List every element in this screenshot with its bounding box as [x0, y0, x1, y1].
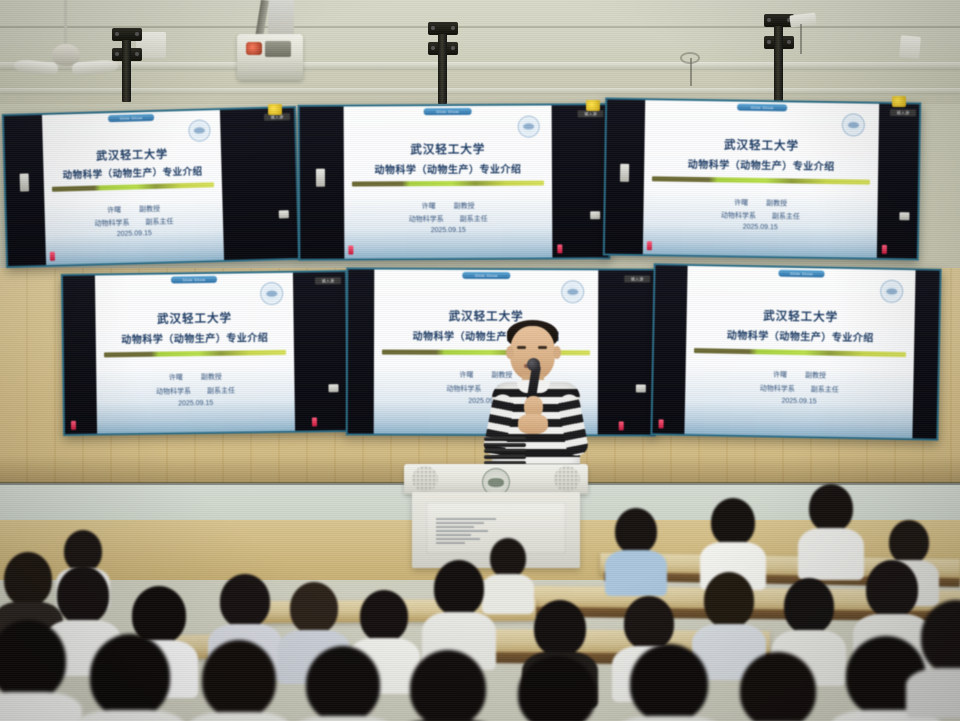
- slide-presenter-title: 副教授: [454, 203, 475, 210]
- slide-presenter-title: 副教授: [139, 206, 160, 214]
- slide-toolbar-label: Slide Show: [462, 272, 510, 279]
- podium-top: [404, 464, 588, 494]
- person-head: [809, 484, 853, 532]
- person-head: [630, 644, 708, 721]
- person-body: [74, 710, 186, 721]
- display-side-panel: [605, 100, 645, 255]
- projector-housing: [265, 41, 291, 57]
- display-corner-sticker: [268, 104, 282, 115]
- slide-university: 武汉轻工大学: [644, 135, 878, 155]
- projector-mount-base: [268, 0, 294, 38]
- slide-content: Slide Show 武汉轻工大学 动物科学（动物生产）专业介绍 许曙 副教授 …: [42, 110, 224, 265]
- audience-person-foreground: [916, 600, 960, 710]
- audience-person: [706, 498, 760, 580]
- slide-presenter-dept: 动物科学系: [409, 216, 444, 223]
- slide-presenter-title: 副教授: [805, 372, 826, 379]
- presenter-ear: [553, 346, 561, 359]
- person-head: [711, 498, 755, 546]
- audience-person: [804, 484, 858, 570]
- slide-divider: [352, 181, 544, 187]
- slide-toolbar: Slide Show: [778, 270, 824, 278]
- presenter-eye: [517, 346, 526, 349]
- person-body: [482, 574, 534, 614]
- fan-blade: [13, 59, 58, 77]
- person-head: [57, 566, 109, 624]
- slide-presenter-dept: 动物科学系: [156, 388, 191, 395]
- audience-person-foreground: [300, 646, 386, 721]
- display-side-panel: 输入源: [552, 105, 609, 257]
- panel-button[interactable]: [590, 211, 600, 219]
- university-seal-icon: [561, 280, 584, 303]
- university-seal-icon: [188, 119, 211, 142]
- slide-toolbar: Slide Show: [171, 276, 217, 284]
- projector-lens-icon: [246, 42, 262, 55]
- presenter-ear: [506, 346, 514, 359]
- slide-toolbar: Slide Show: [108, 114, 154, 122]
- slide-presenter-title: 副教授: [201, 374, 222, 381]
- display-side-panel: [912, 270, 939, 438]
- display-ceiling-mount: [122, 40, 131, 102]
- person-head: [220, 574, 270, 628]
- person-body: [798, 528, 864, 580]
- display-input-tag: 输入源: [315, 277, 341, 284]
- ceiling-hook: [680, 52, 700, 64]
- slide-content: Slide Show 武汉轻工大学 动物科学（动物生产）专业介绍 许曙 副教授 …: [643, 100, 879, 258]
- person-head: [889, 520, 929, 564]
- person-head: [615, 508, 657, 554]
- slide-toolbar-label: Slide Show: [424, 108, 472, 115]
- audience-person-foreground: [404, 650, 492, 721]
- person-head: [624, 596, 674, 650]
- slide-presenter-role: 副系主任: [145, 218, 173, 226]
- slide-presenter-dept: 动物科学系: [446, 386, 481, 393]
- slide-content: Slide Show 武汉轻工大学 动物科学（动物生产）专业介绍 许曙 副教授 …: [95, 273, 295, 434]
- display-side-panel: [348, 269, 375, 433]
- university-seal-icon: [260, 282, 283, 305]
- speaker-grille-right: [554, 466, 580, 492]
- display-side-panel: [63, 276, 97, 434]
- slide-toolbar: Slide Show: [424, 108, 472, 115]
- display-side-panel: [300, 107, 345, 259]
- slide-subtitle: 动物科学（动物生产）专业介绍: [96, 329, 294, 347]
- slide-date: 2025.09.15: [97, 399, 295, 409]
- person-head: [360, 590, 408, 642]
- audience-person: [486, 538, 530, 602]
- slide-presenter-role: 副系主任: [772, 213, 800, 220]
- slide-content: Slide Show 武汉轻工大学 动物科学（动物生产）专业介绍 许曙 副教授 …: [344, 105, 553, 258]
- slide-toolbar-label: Slide Show: [171, 276, 217, 284]
- audience-person: [430, 560, 488, 658]
- presenter-hand-lower: [518, 414, 548, 434]
- person-head: [518, 656, 596, 721]
- display-bottom-left[interactable]: Slide Show 武汉轻工大学 动物科学（动物生产）专业介绍 许曙 副教授 …: [61, 270, 349, 436]
- slide-presenter-role: 副系主任: [460, 216, 488, 223]
- wall-equipment-box: [899, 35, 921, 59]
- slide-toolbar-label: Slide Show: [108, 114, 154, 122]
- slide-divider: [652, 176, 870, 184]
- slide-date: 2025.09.15: [685, 396, 913, 407]
- display-corner-sticker: [586, 100, 600, 111]
- display-side-panel: 输入源: [598, 270, 655, 434]
- slide-presenter-name: 许曙: [734, 200, 748, 207]
- display-corner-sticker: [892, 96, 906, 107]
- slide-university: 武汉轻工大学: [687, 306, 915, 326]
- slide-presenter-name: 许曙: [169, 374, 183, 381]
- audience-person-foreground: [734, 652, 822, 721]
- slide-toolbar-label: Slide Show: [778, 270, 824, 278]
- audience-person-foreground: [0, 620, 72, 721]
- person-head: [4, 552, 52, 606]
- microphone-head-icon: [527, 358, 540, 371]
- display-input-tag: 输入源: [578, 110, 604, 117]
- display-input-tag: 输入源: [890, 109, 916, 116]
- ceiling-seam: [0, 26, 960, 28]
- slide-date: 2025.09.15: [45, 228, 223, 240]
- slide-toolbar: Slide Show: [462, 272, 510, 279]
- person-head: [0, 620, 66, 700]
- panel-button[interactable]: [899, 212, 909, 220]
- person-head: [290, 582, 338, 634]
- status-led: [348, 246, 353, 255]
- person-head: [921, 600, 960, 674]
- status-led: [557, 244, 562, 253]
- slide-subtitle: 动物科学（动物生产）专业介绍: [644, 155, 878, 174]
- slide-presenter-role: 副系主任: [811, 386, 839, 394]
- slide-content: Slide Show 武汉轻工大学 动物科学（动物生产）专业介绍 许曙 副教授 …: [684, 266, 915, 438]
- person-body: [187, 712, 291, 721]
- display-bottom-right[interactable]: Slide Show 武汉轻工大学 动物科学（动物生产）专业介绍 许曙 副教授 …: [650, 263, 941, 440]
- slide-divider: [694, 348, 906, 357]
- panel-button[interactable]: [20, 173, 29, 191]
- panel-button[interactable]: [316, 169, 325, 187]
- status-led: [659, 419, 664, 428]
- university-seal-icon: [842, 113, 865, 136]
- display-side-panel: [4, 115, 46, 266]
- person-body: [0, 692, 82, 721]
- panel-button[interactable]: [328, 384, 338, 392]
- slide-subtitle: 动物科学（动物生产）专业介绍: [686, 326, 914, 345]
- audience-person-foreground: [512, 656, 602, 721]
- person-head: [866, 560, 918, 618]
- status-led: [312, 417, 317, 426]
- ceiling-cable: [800, 24, 802, 54]
- slide-presenter-name: 许曙: [422, 203, 436, 210]
- slide-presenter-name: 许曙: [107, 207, 121, 214]
- status-led: [619, 421, 624, 430]
- slide-university: 武汉轻工大学: [344, 140, 552, 157]
- display-side-panel: 输入源: [293, 272, 347, 431]
- person-head: [534, 600, 586, 656]
- panel-button[interactable]: [279, 210, 289, 218]
- audience-person-foreground: [196, 640, 282, 721]
- display-top-right[interactable]: Slide Show 武汉轻工大学 动物科学（动物生产）专业介绍 许曙 副教授 …: [603, 98, 921, 261]
- display-side-panel: [652, 265, 687, 434]
- slide-presenter-name: 许曙: [773, 372, 787, 379]
- status-led: [882, 245, 887, 254]
- lecture-hall-scene: Slide Show 武汉轻工大学 动物科学（动物生产）专业介绍 许曙 副教授 …: [0, 0, 960, 721]
- person-body: [906, 668, 960, 718]
- person-body: [605, 550, 667, 596]
- panel-button[interactable]: [636, 384, 646, 392]
- slide-subtitle: 动物科学（动物生产）专业介绍: [344, 160, 552, 176]
- slide-presenter-dept: 动物科学系: [760, 385, 795, 393]
- ceiling-fan: [18, 44, 114, 78]
- slide-presenter-name: 许曙: [459, 372, 473, 379]
- display-side-panel: 输入源: [220, 108, 298, 260]
- person-head: [490, 538, 526, 578]
- audience-person-foreground: [84, 634, 176, 721]
- fan-rod: [64, 0, 67, 46]
- person-head: [90, 634, 170, 718]
- slide-subtitle: 动物科学（动物生产）专业介绍: [43, 163, 221, 182]
- slide-date: 2025.09.15: [643, 222, 877, 233]
- audience-person-foreground: [624, 644, 714, 721]
- person-head: [784, 578, 834, 634]
- person-body: [291, 716, 395, 721]
- slide-date: 2025.09.15: [344, 226, 552, 234]
- status-led: [50, 252, 55, 261]
- audience-person: [610, 508, 662, 586]
- slide-toolbar-label: Slide Show: [737, 104, 787, 112]
- podium-microphone-stack: [484, 437, 526, 467]
- ceiling-rail: [0, 62, 960, 69]
- person-head: [410, 650, 486, 721]
- person-body: [614, 716, 724, 721]
- display-ceiling-mount: [438, 34, 447, 104]
- presenter-eye: [538, 346, 547, 349]
- university-seal-icon: [518, 116, 540, 138]
- panel-button[interactable]: [620, 164, 629, 182]
- slide-toolbar: Slide Show: [737, 104, 787, 112]
- slide-presenter-dept: 动物科学系: [721, 212, 756, 220]
- slide-divider: [104, 350, 286, 358]
- slide-university: 武汉轻工大学: [95, 309, 293, 328]
- ceiling-rail-secondary: [0, 88, 960, 93]
- display-side-panel: 输入源: [877, 104, 919, 259]
- slide-presenter-role: 副系主任: [207, 388, 235, 395]
- person-head: [740, 652, 816, 721]
- person-head: [202, 640, 276, 718]
- ceiling-projector: [237, 34, 303, 80]
- status-led: [647, 241, 652, 250]
- display-ceiling-mount: [774, 26, 783, 104]
- display-input-tag: 输入源: [624, 275, 650, 282]
- person-head: [306, 646, 380, 721]
- person-head: [704, 572, 754, 628]
- display-top-center[interactable]: Slide Show 武汉轻工大学 动物科学（动物生产）专业介绍 许曙 副教授 …: [298, 103, 611, 261]
- speaker-grille-left: [412, 466, 438, 492]
- person-head: [434, 560, 484, 616]
- status-led: [71, 421, 76, 430]
- slide-presenter-dept: 动物科学系: [94, 220, 129, 228]
- fan-blade: [72, 59, 119, 76]
- slide-presenter-title: 副教授: [766, 200, 787, 207]
- slide-university: 武汉轻工大学: [43, 144, 221, 165]
- display-top-left[interactable]: Slide Show 武汉轻工大学 动物科学（动物生产）专业介绍 许曙 副教授 …: [2, 106, 300, 268]
- slide-divider: [52, 182, 214, 192]
- university-seal-icon: [880, 280, 903, 303]
